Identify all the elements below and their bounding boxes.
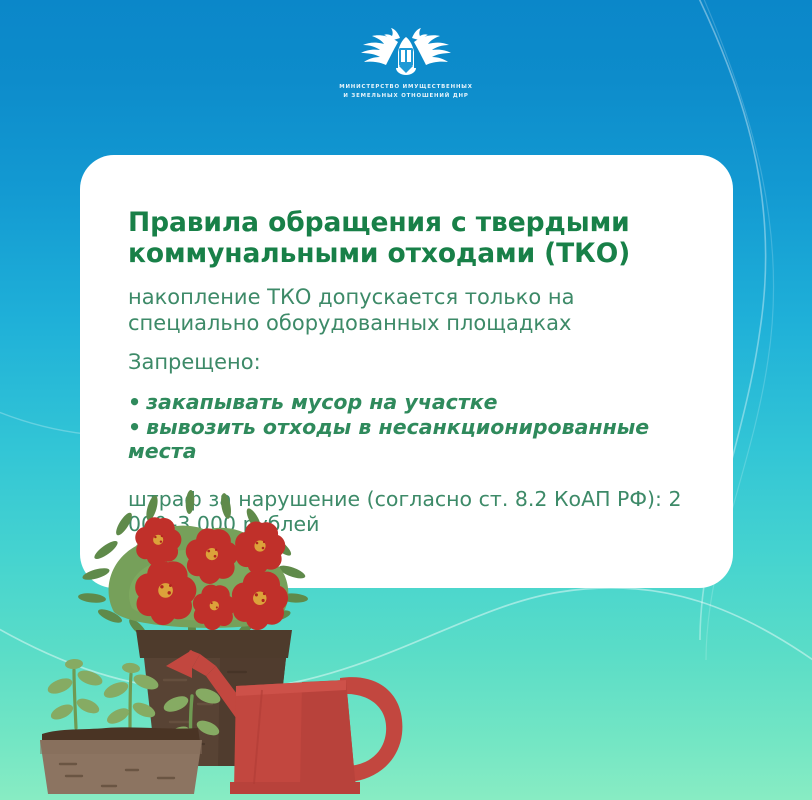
list-item-label: вывозить отходы в несанкционированные ме… <box>128 415 649 463</box>
poster: МИНИСТЕРСТВО ИМУЩЕСТВЕННЫХ И ЗЕМЕЛЬНЫХ О… <box>0 0 812 800</box>
ministry-caption: МИНИСТЕРСТВО ИМУЩЕСТВЕННЫХ И ЗЕМЕЛЬНЫХ О… <box>339 83 473 101</box>
list-item: •вывозить отходы в несанкционированные м… <box>128 415 699 463</box>
flower-cluster <box>135 517 288 630</box>
bullet-marker: • <box>128 390 141 414</box>
list-item: •закапывать мусор на участке <box>128 390 699 414</box>
garden-illustration <box>40 490 460 800</box>
garden-illustration-svg <box>40 490 460 800</box>
list-item-label: закапывать мусор на участке <box>146 390 497 414</box>
prohibited-label: Запрещено: <box>128 350 699 376</box>
prohibited-list: •закапывать мусор на участке •вывозить о… <box>128 390 699 463</box>
seedling <box>46 658 105 728</box>
bullet-marker: • <box>128 415 141 439</box>
double-headed-eagle-emblem-icon <box>358 24 454 76</box>
page-title: Правила обращения с твердыми коммунальны… <box>128 207 699 269</box>
header: МИНИСТЕРСТВО ИМУЩЕСТВЕННЫХ И ЗЕМЕЛЬНЫХ О… <box>0 24 812 101</box>
intro-paragraph: накопление ТКО допускается только на спе… <box>128 285 699 336</box>
card-inner: Правила обращения с твердыми коммунальны… <box>128 207 699 537</box>
